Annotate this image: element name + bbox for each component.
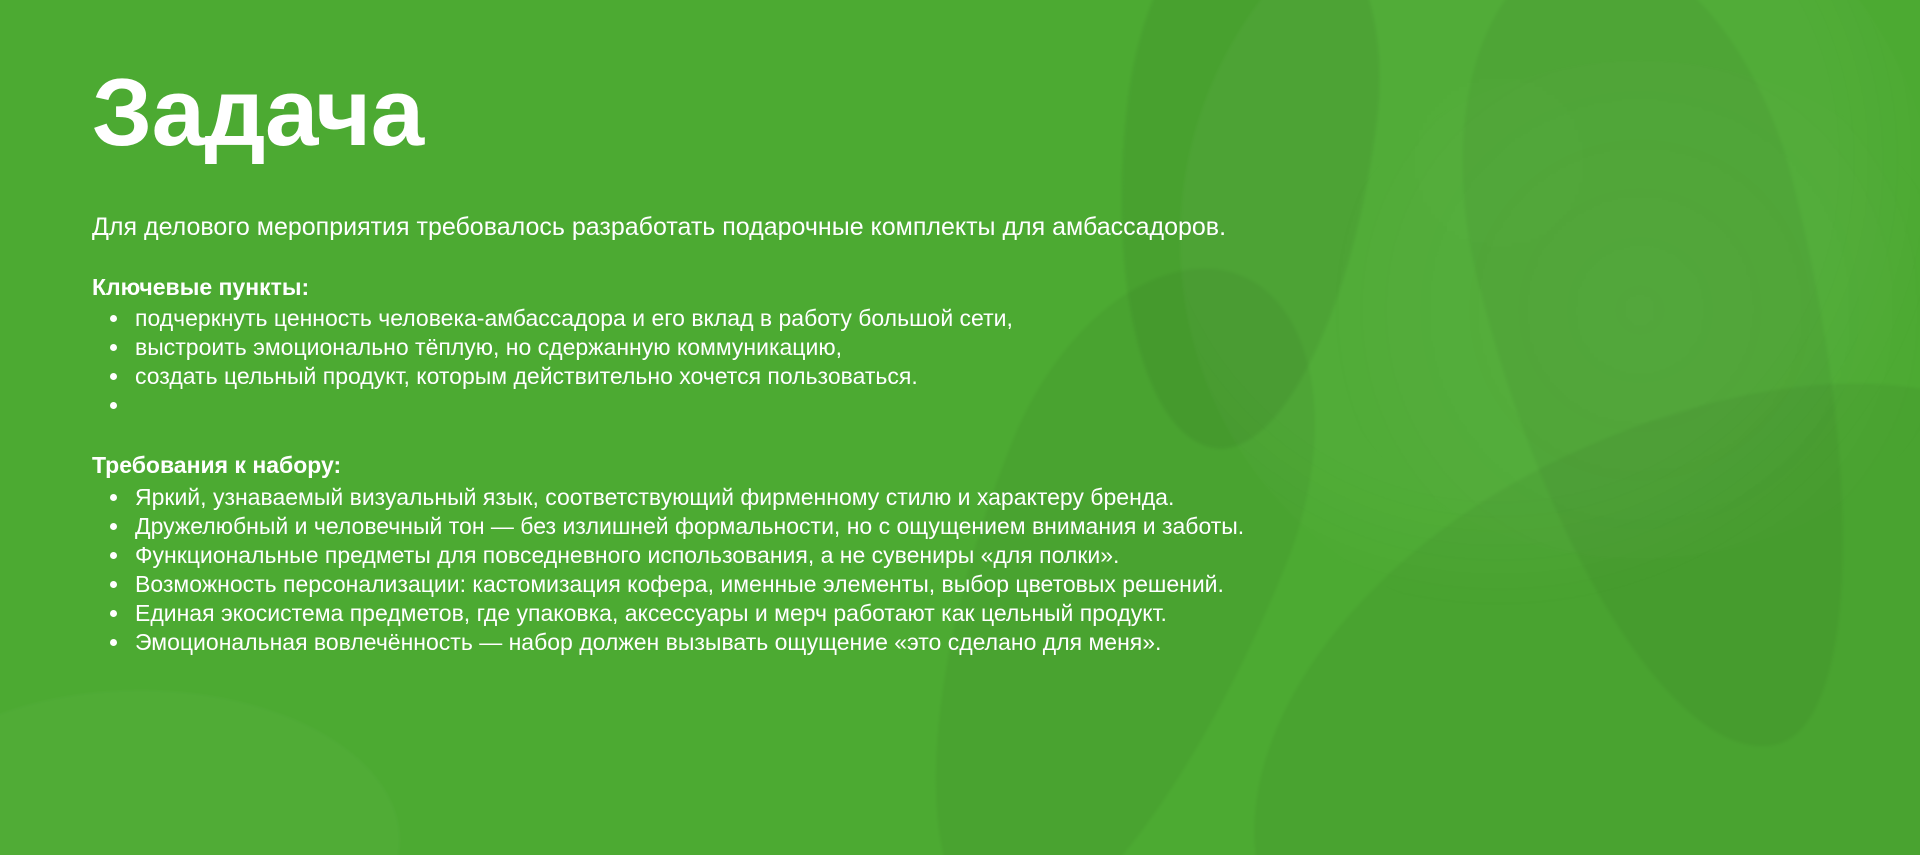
bullet-dot-icon [110,344,117,351]
slide-root: Задача Для делового мероприятия требовал… [0,0,1920,855]
bullet-dot-icon [110,523,117,530]
bullet-dot-icon [110,373,117,380]
list-item: подчеркнуть ценность человека-амбассадор… [92,304,1920,333]
slide-content: Задача Для делового мероприятия требовал… [0,0,1920,657]
bullet-dot-icon [110,610,117,617]
list-item: Функциональные предметы для повседневног… [92,541,1920,570]
bullet-dot-icon [110,494,117,501]
list-item: Единая экосистема предметов, где упаковк… [92,599,1920,628]
list-item: Эмоциональная вовлечённость — набор долж… [92,628,1920,657]
page-title: Задача [92,0,1920,164]
list-item-label: создать цельный продукт, которым действи… [135,362,918,391]
section-heading-requirements: Требования к набору: [92,420,1920,480]
bullet-dot-icon [110,402,117,409]
list-item: Дружелюбный и человечный тон — без излиш… [92,512,1920,541]
list-item-label: Дружелюбный и человечный тон — без излиш… [135,512,1244,541]
list-item: выстроить эмоционально тёплую, но сдержа… [92,333,1920,362]
bullet-dot-icon [110,315,117,322]
background-blob-bottom-left [0,690,400,855]
list-item-label: Эмоциональная вовлечённость — набор долж… [135,628,1161,657]
list-item-label: Единая экосистема предметов, где упаковк… [135,599,1167,628]
list-item-label: подчеркнуть ценность человека-амбассадор… [135,304,1013,333]
list-item-label: Функциональные предметы для повседневног… [135,541,1119,570]
list-item-label: Возможность персонализации: кастомизация… [135,570,1224,599]
key-points-list: подчеркнуть ценность человека-амбассадор… [92,301,1920,420]
intro-paragraph: Для делового мероприятия требовалось раз… [92,164,1920,242]
bullet-dot-icon [110,639,117,646]
list-item-empty [92,391,1920,420]
list-item-label: Яркий, узнаваемый визуальный язык, соотв… [135,483,1174,512]
bullet-dot-icon [110,552,117,559]
bullet-dot-icon [110,581,117,588]
list-item: Яркий, узнаваемый визуальный язык, соотв… [92,483,1920,512]
list-item: создать цельный продукт, которым действи… [92,362,1920,391]
requirements-list: Яркий, узнаваемый визуальный язык, соотв… [92,480,1920,657]
list-item: Возможность персонализации: кастомизация… [92,570,1920,599]
section-heading-key-points: Ключевые пункты: [92,242,1920,302]
list-item-label: выстроить эмоционально тёплую, но сдержа… [135,333,842,362]
